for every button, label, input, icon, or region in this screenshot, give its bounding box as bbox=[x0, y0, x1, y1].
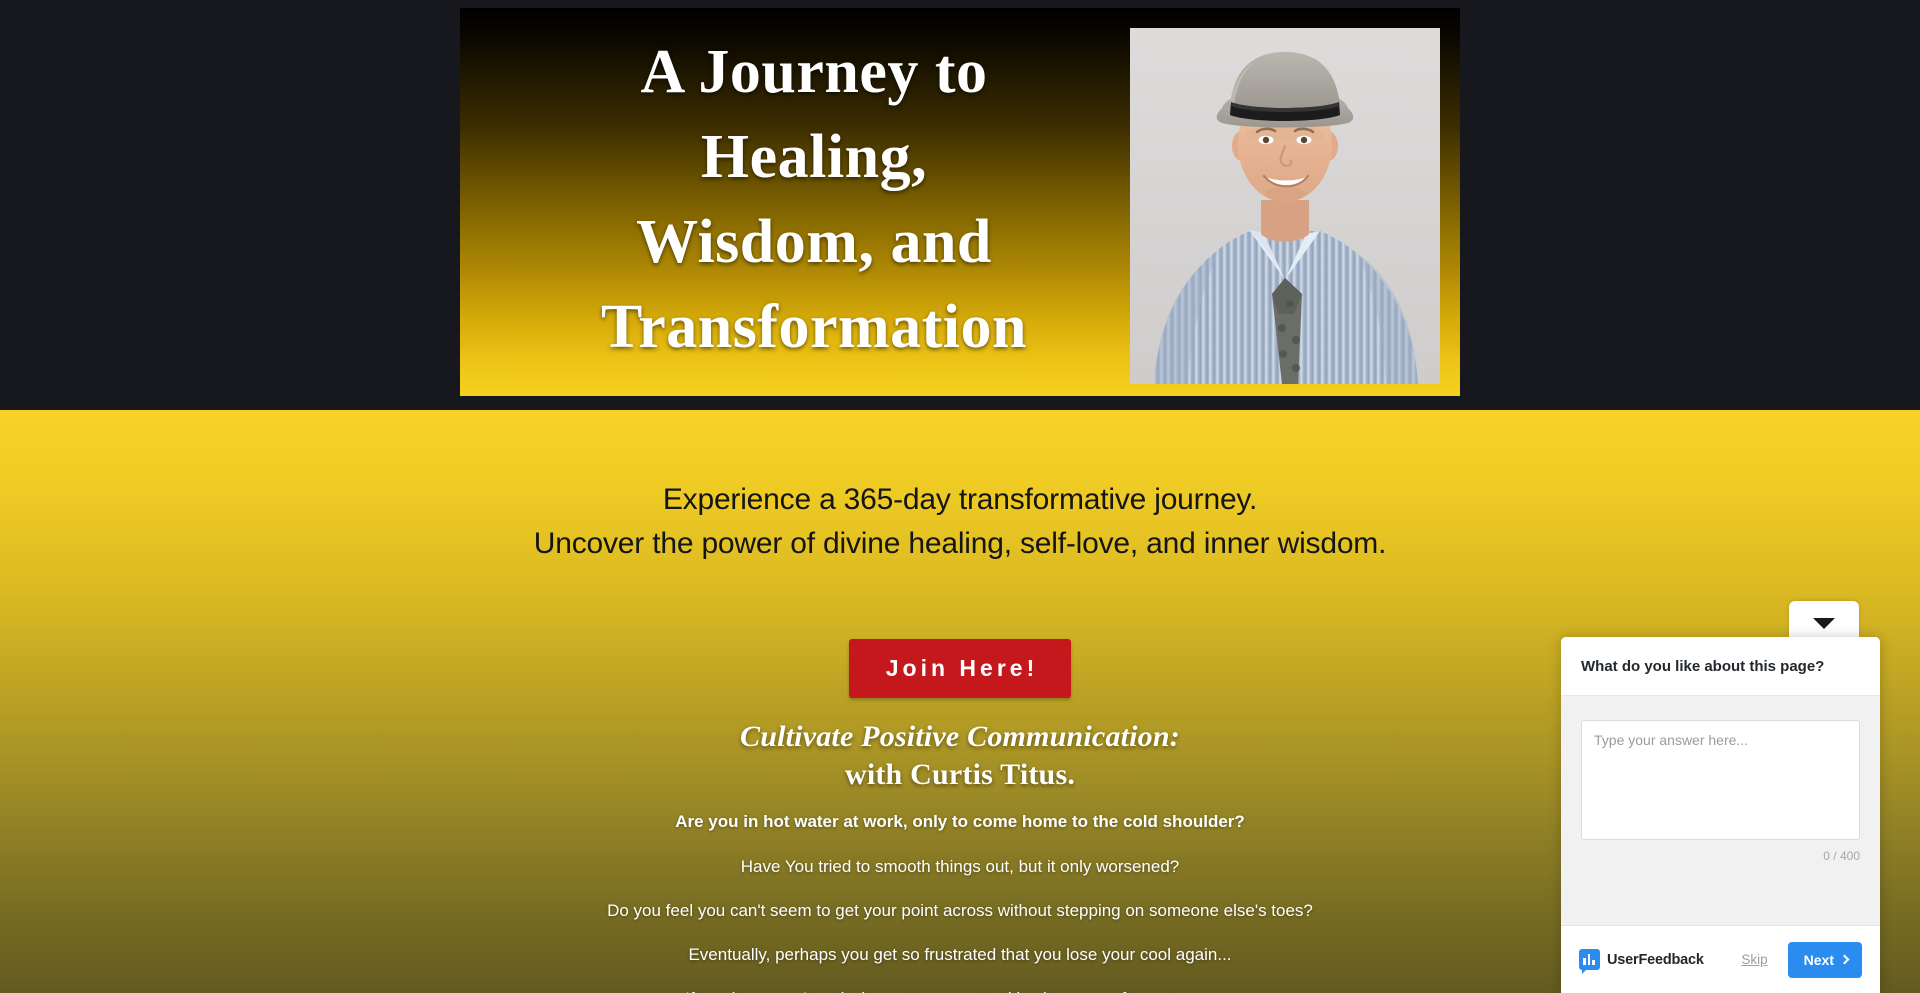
character-counter: 0 / 400 bbox=[1581, 840, 1860, 863]
next-button-label: Next bbox=[1804, 952, 1834, 968]
skip-link[interactable]: Skip bbox=[1741, 952, 1767, 967]
join-here-button[interactable]: Join Here! bbox=[849, 639, 1071, 698]
hero-banner: A Journey to Healing, Wisdom, and Transf… bbox=[460, 8, 1460, 396]
landing-page: A Journey to Healing, Wisdom, and Transf… bbox=[0, 0, 1920, 993]
userfeedback-widget: What do you like about this page? 0 / 40… bbox=[1561, 637, 1880, 993]
chevron-down-icon bbox=[1813, 618, 1835, 629]
next-button[interactable]: Next bbox=[1788, 942, 1862, 978]
feedback-answer-input[interactable] bbox=[1581, 720, 1860, 840]
feedback-footer: UserFeedback Skip Next bbox=[1561, 925, 1880, 993]
hero-title: A Journey to Healing, Wisdom, and Transf… bbox=[484, 30, 1144, 370]
speaker-portrait-photo bbox=[1130, 28, 1440, 384]
brand-name-label: UserFeedback bbox=[1607, 952, 1704, 968]
feedback-actions: Skip Next bbox=[1741, 942, 1862, 978]
hero-section: A Journey to Healing, Wisdom, and Transf… bbox=[0, 0, 1920, 396]
lead-paragraph: Experience a 365-day transformative jour… bbox=[525, 478, 1395, 566]
feedback-body: 0 / 400 bbox=[1561, 696, 1880, 925]
userfeedback-brand: UserFeedback bbox=[1579, 949, 1704, 970]
feedback-header: What do you like about this page? bbox=[1561, 637, 1880, 696]
feedback-question: What do you like about this page? bbox=[1581, 657, 1860, 677]
chevron-right-icon bbox=[1840, 955, 1850, 965]
userfeedback-logo-icon bbox=[1579, 949, 1600, 970]
